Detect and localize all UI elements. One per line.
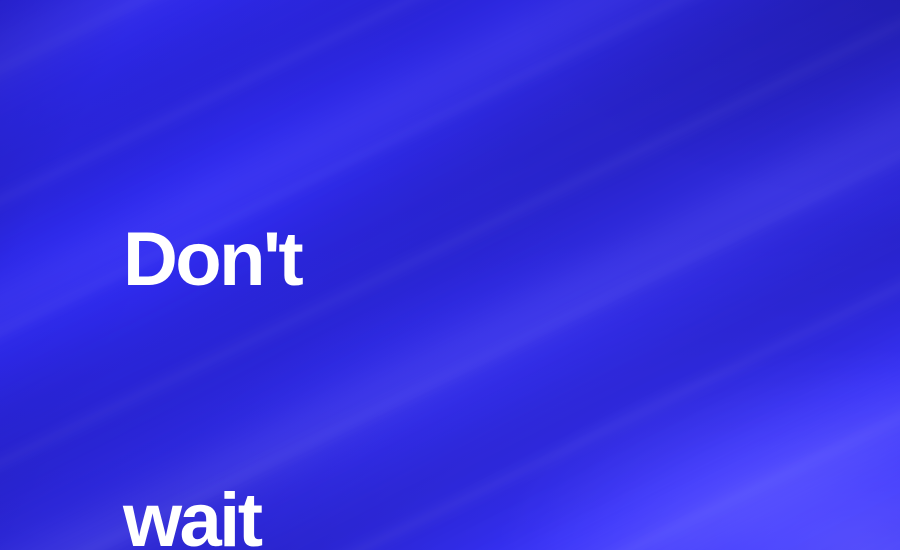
headline-line-1: Don't <box>123 216 743 303</box>
promotional-banner: Don't wait to invest in your future <box>0 0 900 550</box>
headline: Don't wait to invest in your future <box>123 42 743 550</box>
headline-line-2: wait <box>123 477 743 550</box>
